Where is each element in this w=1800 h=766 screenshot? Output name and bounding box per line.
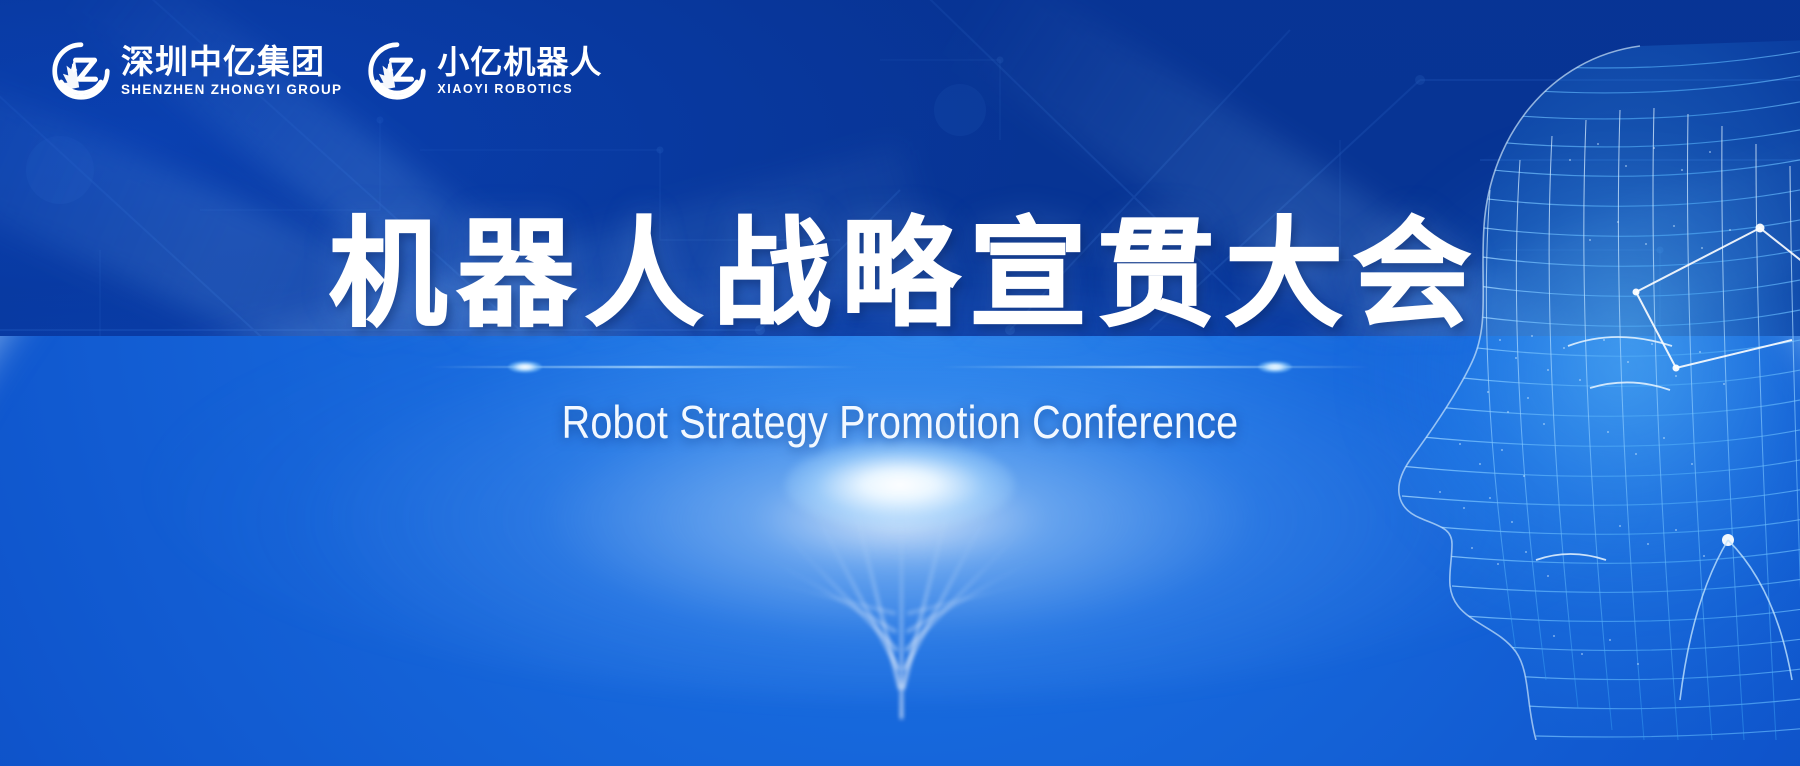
- logo-name-cn: 小亿机器人: [437, 46, 602, 78]
- main-title-en: Robot Strategy Promotion Conference: [126, 395, 1674, 449]
- zhongyi-emblem-icon: [52, 42, 110, 100]
- logo-bar: 深圳中亿集团 SHENZHEN ZHONGYI GROUP 小亿机器人 XIAO…: [52, 42, 602, 100]
- divider-line-left: [430, 366, 860, 368]
- decorative-divider: [430, 359, 1370, 375]
- xiaoyi-emblem-icon: [368, 42, 426, 100]
- divider-line-right: [940, 366, 1370, 368]
- logo-xiaoyi-robotics[interactable]: 小亿机器人 XIAOYI ROBOTICS: [368, 42, 602, 100]
- main-title-cn: 机器人战略宣贯大会: [0, 212, 1800, 337]
- logo-name-cn: 深圳中亿集团: [121, 45, 342, 78]
- conference-banner: 深圳中亿集团 SHENZHEN ZHONGYI GROUP 小亿机器人 XIAO…: [0, 0, 1800, 766]
- title-block: 机器人战略宣贯大会 Robot Strategy Promotion Confe…: [0, 212, 1800, 449]
- logo-name-en: XIAOYI ROBOTICS: [437, 83, 602, 96]
- logo-name-en: SHENZHEN ZHONGYI GROUP: [121, 83, 342, 97]
- divider-light-dot-left: [508, 361, 542, 373]
- logo-shenzhen-zhongyi-group[interactable]: 深圳中亿集团 SHENZHEN ZHONGYI GROUP: [52, 42, 342, 100]
